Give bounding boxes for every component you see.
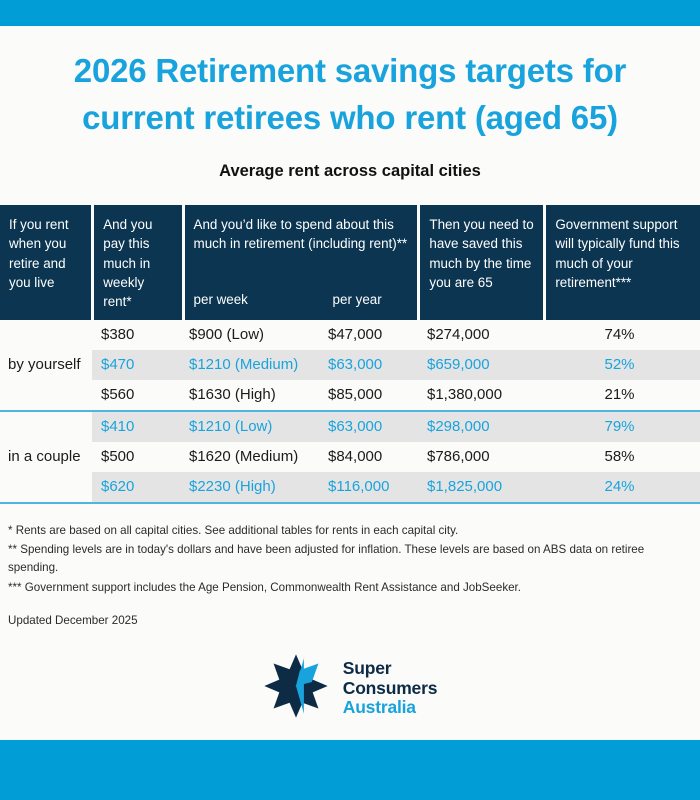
column-header-government-support: Government support will typically fund t… bbox=[546, 205, 700, 320]
page-title: 2026 Retirement savings targets for curr… bbox=[0, 26, 700, 142]
row-cells: $470 $1210 (Medium) $63,000 $659,000 52% bbox=[92, 350, 700, 380]
cell-per-week: $1210 (Low) bbox=[180, 412, 328, 442]
row-label-spacer bbox=[0, 412, 92, 442]
cell-savings: $1,825,000 bbox=[418, 472, 542, 502]
column-subheader-per-week: per week bbox=[194, 290, 248, 309]
table-group-single: by yourself $380 $900 (Low) $47,000 $274… bbox=[0, 320, 700, 410]
cell-savings: $274,000 bbox=[418, 320, 542, 350]
cell-per-week: $1210 (Medium) bbox=[180, 350, 328, 380]
table-row: $620 $2230 (High) $116,000 $1,825,000 24… bbox=[0, 472, 700, 502]
group-label-couple: in a couple bbox=[8, 442, 81, 472]
row-label-spacer bbox=[0, 320, 92, 350]
cell-weekly-rent: $500 bbox=[92, 442, 180, 472]
table-row: $560 $1630 (High) $85,000 $1,380,000 21% bbox=[0, 380, 700, 410]
table-row: $410 $1210 (Low) $63,000 $298,000 79% bbox=[0, 412, 700, 442]
logo-wordmark: Super Consumers Australia bbox=[343, 659, 437, 718]
row-cells: $380 $900 (Low) $47,000 $274,000 74% bbox=[92, 320, 700, 350]
footnote-spending: ** Spending levels are in today's dollar… bbox=[8, 541, 692, 578]
cell-per-year: $63,000 bbox=[328, 350, 418, 380]
cell-weekly-rent: $380 bbox=[92, 320, 180, 350]
bottom-accent-bar bbox=[0, 740, 700, 800]
cell-gov-support: 21% bbox=[542, 380, 697, 410]
column-header-government-support-label: Government support will typically fund t… bbox=[555, 217, 679, 290]
logo-line-consumers: Consumers bbox=[343, 679, 437, 699]
cell-savings: $298,000 bbox=[418, 412, 542, 442]
cell-gov-support: 79% bbox=[542, 412, 697, 442]
table-group-couple: in a couple $410 $1210 (Low) $63,000 $29… bbox=[0, 412, 700, 502]
page-content: 2026 Retirement savings targets for curr… bbox=[0, 26, 700, 724]
brand-logo: Super Consumers Australia bbox=[0, 653, 700, 724]
row-cells: $560 $1630 (High) $85,000 $1,380,000 21% bbox=[92, 380, 700, 410]
cell-per-week: $1620 (Medium) bbox=[180, 442, 328, 472]
column-header-weekly-rent: And you pay this much in weekly rent* bbox=[94, 205, 181, 320]
cell-gov-support: 74% bbox=[542, 320, 697, 350]
row-cells: $410 $1210 (Low) $63,000 $298,000 79% bbox=[92, 412, 700, 442]
cell-weekly-rent: $410 bbox=[92, 412, 180, 442]
cell-per-week: $900 (Low) bbox=[180, 320, 328, 350]
cell-weekly-rent: $620 bbox=[92, 472, 180, 502]
cell-per-year: $84,000 bbox=[328, 442, 418, 472]
cell-savings: $659,000 bbox=[418, 350, 542, 380]
footnote-government-support: *** Government support includes the Age … bbox=[8, 579, 692, 597]
cell-weekly-rent: $560 bbox=[92, 380, 180, 410]
column-header-savings-needed-label: Then you need to have saved this much by… bbox=[429, 217, 533, 290]
page-subtitle: Average rent across capital cities bbox=[0, 142, 700, 181]
cell-per-week: $2230 (High) bbox=[180, 472, 328, 502]
logo-line-super: Super bbox=[343, 659, 437, 679]
column-subheader-per-year: per year bbox=[333, 290, 382, 309]
cell-savings: $1,380,000 bbox=[418, 380, 542, 410]
cell-per-year: $116,000 bbox=[328, 472, 418, 502]
cell-gov-support: 52% bbox=[542, 350, 697, 380]
table-row: $500 $1620 (Medium) $84,000 $786,000 58% bbox=[0, 442, 700, 472]
table-row: $380 $900 (Low) $47,000 $274,000 74% bbox=[0, 320, 700, 350]
retirement-targets-table: If you rent when you retire and you live… bbox=[0, 205, 700, 504]
cell-per-year: $85,000 bbox=[328, 380, 418, 410]
row-label-spacer bbox=[0, 472, 92, 502]
cell-per-year: $47,000 bbox=[328, 320, 418, 350]
column-header-spending-label: And you’d like to spend about this much … bbox=[194, 217, 408, 251]
logo-line-australia: Australia bbox=[343, 698, 437, 718]
table-header-row: If you rent when you retire and you live… bbox=[0, 205, 700, 320]
cell-per-year: $63,000 bbox=[328, 412, 418, 442]
cell-per-week: $1630 (High) bbox=[180, 380, 328, 410]
footnotes: * Rents are based on all capital cities.… bbox=[0, 504, 700, 597]
cell-weekly-rent: $470 bbox=[92, 350, 180, 380]
row-cells: $500 $1620 (Medium) $84,000 $786,000 58% bbox=[92, 442, 700, 472]
group-label-single: by yourself bbox=[8, 350, 81, 380]
row-cells: $620 $2230 (High) $116,000 $1,825,000 24… bbox=[92, 472, 700, 502]
column-header-savings-needed: Then you need to have saved this much by… bbox=[420, 205, 543, 320]
cell-gov-support: 24% bbox=[542, 472, 697, 502]
eight-point-star-icon bbox=[263, 653, 329, 724]
row-label-spacer bbox=[0, 380, 92, 410]
cell-savings: $786,000 bbox=[418, 442, 542, 472]
column-header-who: If you rent when you retire and you live bbox=[0, 205, 91, 320]
cell-gov-support: 58% bbox=[542, 442, 697, 472]
top-accent-bar bbox=[0, 0, 700, 26]
footnote-rents: * Rents are based on all capital cities.… bbox=[8, 522, 692, 540]
column-header-who-label: If you rent when you retire and you live bbox=[9, 217, 69, 290]
column-header-spending: And you’d like to spend about this much … bbox=[185, 205, 418, 320]
column-header-weekly-rent-label: And you pay this much in weekly rent* bbox=[103, 217, 152, 310]
updated-date: Updated December 2025 bbox=[0, 598, 700, 627]
table-row: $470 $1210 (Medium) $63,000 $659,000 52% bbox=[0, 350, 700, 380]
